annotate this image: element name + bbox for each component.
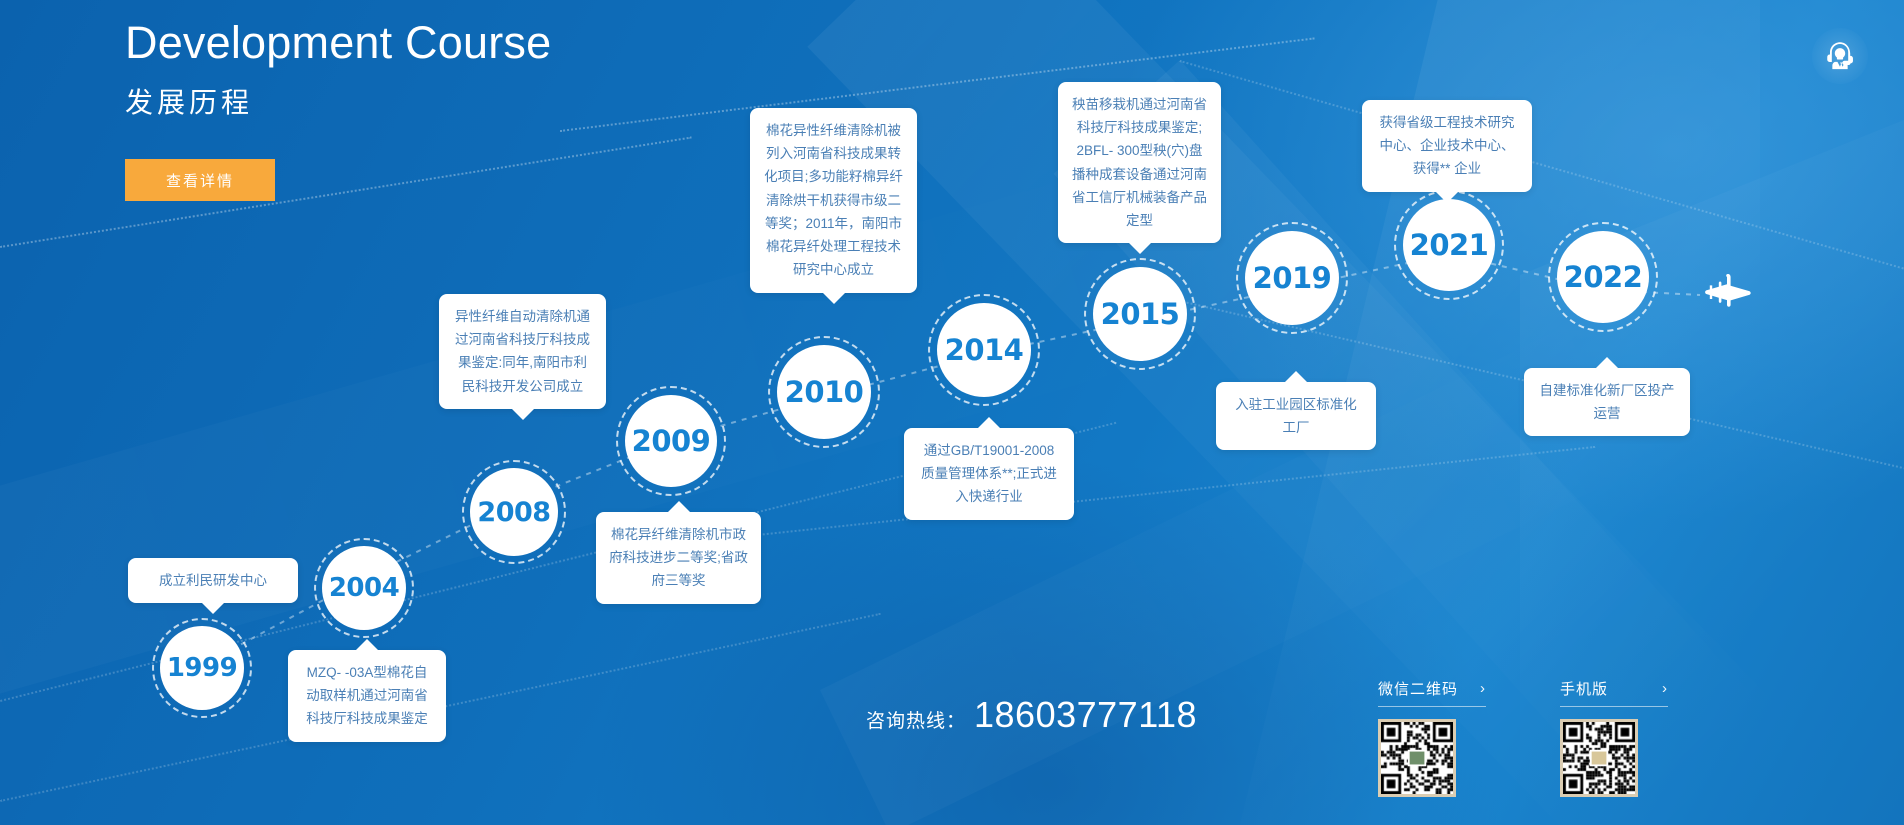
card-arrow-icon: [202, 603, 224, 614]
card-arrow-icon: [823, 293, 845, 304]
card-arrow-icon: [978, 417, 1000, 428]
timeline-card-text: 自建标准化新厂区投产运营: [1540, 383, 1675, 421]
year-circle-2009[interactable]: 2009: [625, 395, 717, 487]
timeline-card-2004[interactable]: MZQ- -03A型棉花自动取样机通过河南省科技厅科技成果鉴定: [288, 650, 446, 742]
qr-label-wechat: 微信二维码: [1378, 678, 1458, 699]
timeline-card-2022[interactable]: 自建标准化新厂区投产运营: [1524, 368, 1690, 436]
year-circle-2015[interactable]: 2015: [1093, 267, 1187, 361]
qr-label-mobile: 手机版: [1560, 678, 1608, 699]
card-arrow-icon: [1129, 243, 1151, 254]
qr-block-wechat[interactable]: 微信二维码 ›: [1378, 678, 1486, 797]
year-circle-2014[interactable]: 2014: [937, 303, 1031, 397]
timeline-card-text: 通过GB/T19001-2008质量管理体系**;正式进入快递行业: [921, 443, 1057, 504]
timeline-card-2015[interactable]: 秧苗移栽机通过河南省科技厅科技成果鉴定; 2BFL- 300型秧(穴)盘播种成套…: [1058, 82, 1221, 243]
page-title-chinese: 发展历程: [125, 81, 551, 121]
timeline-card-1999[interactable]: 成立利民研发中心: [128, 558, 298, 603]
year-circle-2010[interactable]: 2010: [777, 345, 871, 439]
card-arrow-icon: [1596, 357, 1618, 368]
timeline-card-2021[interactable]: 获得省级工程技术研究中心、企业技术中心、获得** 企业: [1362, 100, 1532, 192]
qr-block-mobile[interactable]: 手机版 ›: [1560, 678, 1668, 797]
timeline-card-2014[interactable]: 通过GB/T19001-2008质量管理体系**;正式进入快递行业: [904, 428, 1074, 520]
timeline-card-text: MZQ- -03A型棉花自动取样机通过河南省科技厅科技成果鉴定: [306, 665, 428, 726]
year-circle-2021[interactable]: 2021: [1403, 199, 1495, 291]
timeline-card-text: 成立利民研发中心: [159, 573, 267, 588]
page-header: Development Course 发展历程 查看详情: [125, 16, 551, 201]
timeline-card-2019[interactable]: 入驻工业园区标准化工厂: [1216, 382, 1376, 450]
year-circle-2004[interactable]: 2004: [322, 546, 406, 630]
year-circle-2019[interactable]: 2019: [1245, 231, 1339, 325]
qr-header-wechat[interactable]: 微信二维码 ›: [1378, 678, 1486, 707]
year-circle-2008[interactable]: 2008: [470, 468, 558, 556]
card-arrow-icon: [512, 409, 534, 420]
qr-header-mobile[interactable]: 手机版 ›: [1560, 678, 1668, 707]
timeline-card-text: 秧苗移栽机通过河南省科技厅科技成果鉴定; 2BFL- 300型秧(穴)盘播种成套…: [1072, 97, 1207, 228]
timeline-card-text: 棉花异纤维清除机市政府科技进步二等奖;省政府三等奖: [609, 527, 748, 588]
qr-code-image-wechat: [1378, 719, 1456, 797]
timeline-card-text: 获得省级工程技术研究中心、企业技术中心、获得** 企业: [1380, 115, 1515, 176]
year-circle-1999[interactable]: 1999: [160, 626, 244, 710]
hotline-label: 咨询热线：: [866, 706, 966, 733]
card-arrow-icon: [356, 639, 378, 650]
timeline-card-2010[interactable]: 棉花异性纤维清除机被列入河南省科技成果转化项目;多功能籽棉异纤清除烘干机获得市级…: [750, 108, 917, 293]
timeline-card-text: 入驻工业园区标准化工厂: [1235, 397, 1357, 435]
airplane-icon: [1700, 270, 1754, 315]
hotline-block: 咨询热线： 18603777118: [866, 694, 1197, 736]
hotline-number: 18603777118: [974, 694, 1197, 736]
headset-customer-service-icon[interactable]: [1812, 28, 1868, 84]
page-title-english: Development Course: [125, 16, 551, 69]
view-detail-button[interactable]: 查看详情: [125, 159, 275, 201]
chevron-right-icon: ›: [1480, 680, 1486, 697]
card-arrow-icon: [1285, 371, 1307, 382]
qr-code-image-mobile: [1560, 719, 1638, 797]
timeline-card-text: 棉花异性纤维清除机被列入河南省科技成果转化项目;多功能籽棉异纤清除烘干机获得市级…: [764, 123, 903, 277]
chevron-right-icon: ›: [1662, 680, 1668, 697]
year-circle-2022[interactable]: 2022: [1557, 231, 1649, 323]
timeline-card-2008[interactable]: 异性纤维自动清除机通过河南省科技厅科技成果鉴定:同年,南阳市利民科技开发公司成立: [439, 294, 606, 409]
timeline-card-text: 异性纤维自动清除机通过河南省科技厅科技成果鉴定:同年,南阳市利民科技开发公司成立: [455, 309, 590, 394]
card-arrow-icon: [1436, 192, 1458, 203]
card-arrow-icon: [668, 501, 690, 512]
timeline-card-2009[interactable]: 棉花异纤维清除机市政府科技进步二等奖;省政府三等奖: [596, 512, 761, 604]
